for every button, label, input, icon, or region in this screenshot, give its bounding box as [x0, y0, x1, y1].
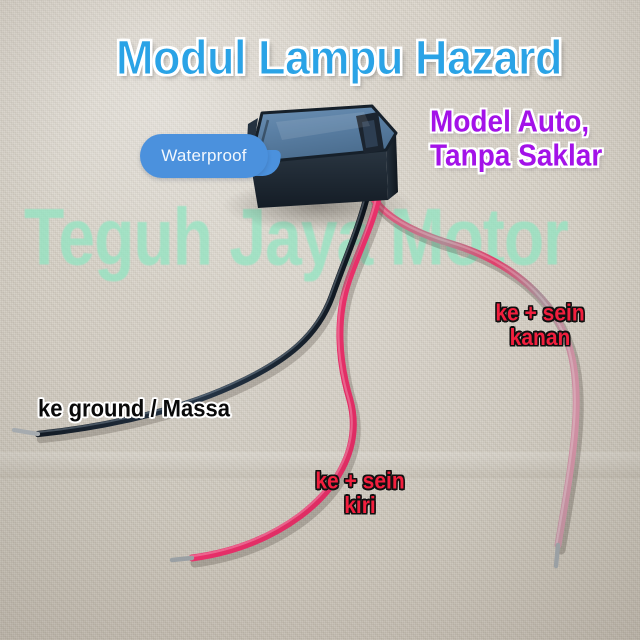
label-right-signal-wire: ke + sein kanan [480, 302, 600, 351]
ground-wire-tip [14, 430, 38, 434]
subtitle-line-1: Model Auto, [430, 104, 589, 138]
subtitle-text: Model Auto, Tanpa Saklar [430, 104, 602, 173]
label-left-signal-wire: ke + sein kiri [300, 470, 420, 519]
label-right-signal-line-1: ke + sein [495, 301, 584, 326]
label-right-signal-line-2: kanan [510, 325, 571, 350]
left-signal-wire-tip [172, 558, 192, 560]
subtitle-line-2: Tanpa Saklar [430, 138, 602, 172]
label-left-signal-line-1: ke + sein [315, 469, 404, 494]
label-left-signal-line-2: kiri [344, 493, 376, 518]
label-ground-wire: ke ground / Massa [38, 396, 230, 421]
waterproof-badge-label: Waterproof [140, 134, 268, 178]
product-photo-card: Teguh Jaya Motor [0, 0, 640, 640]
right-signal-wire-tip [556, 545, 558, 566]
page-title: Modul Lampu Hazard [116, 33, 562, 82]
